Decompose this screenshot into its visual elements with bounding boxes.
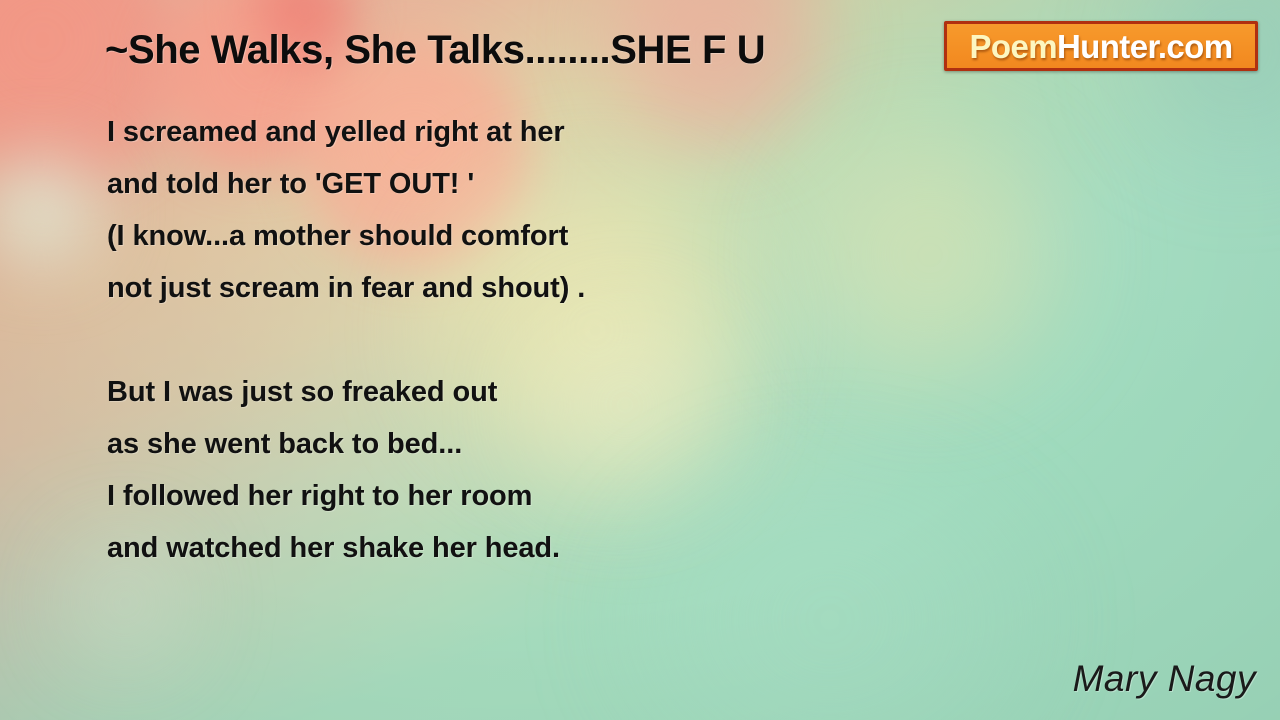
watermark-label-primary: Poem (969, 28, 1056, 65)
poem-line: I followed her right to her room (107, 470, 927, 522)
poem-line: and watched her shake her head. (107, 522, 927, 574)
author-signature: Mary Nagy (1073, 658, 1256, 700)
poem-line: But I was just so freaked out (107, 366, 927, 418)
poem-line-spacer (107, 314, 927, 366)
poem-slide: ~She Walks, She Talks........SHE F U Poe… (0, 0, 1280, 720)
page-title: ~She Walks, She Talks........SHE F U (105, 28, 765, 73)
poem-body: I screamed and yelled right at her and t… (107, 106, 927, 574)
watermark-label-secondary: Hunter.com (1057, 28, 1233, 65)
poemhunter-watermark-badge[interactable]: PoemHunter.com (944, 21, 1258, 71)
watermark-label: PoemHunter.com (969, 30, 1232, 63)
poem-line: as she went back to bed... (107, 418, 927, 470)
poem-line: not just scream in fear and shout) . (107, 262, 927, 314)
poem-line: and told her to 'GET OUT! ' (107, 158, 927, 210)
poem-line: I screamed and yelled right at her (107, 106, 927, 158)
poem-line: (I know...a mother should comfort (107, 210, 927, 262)
